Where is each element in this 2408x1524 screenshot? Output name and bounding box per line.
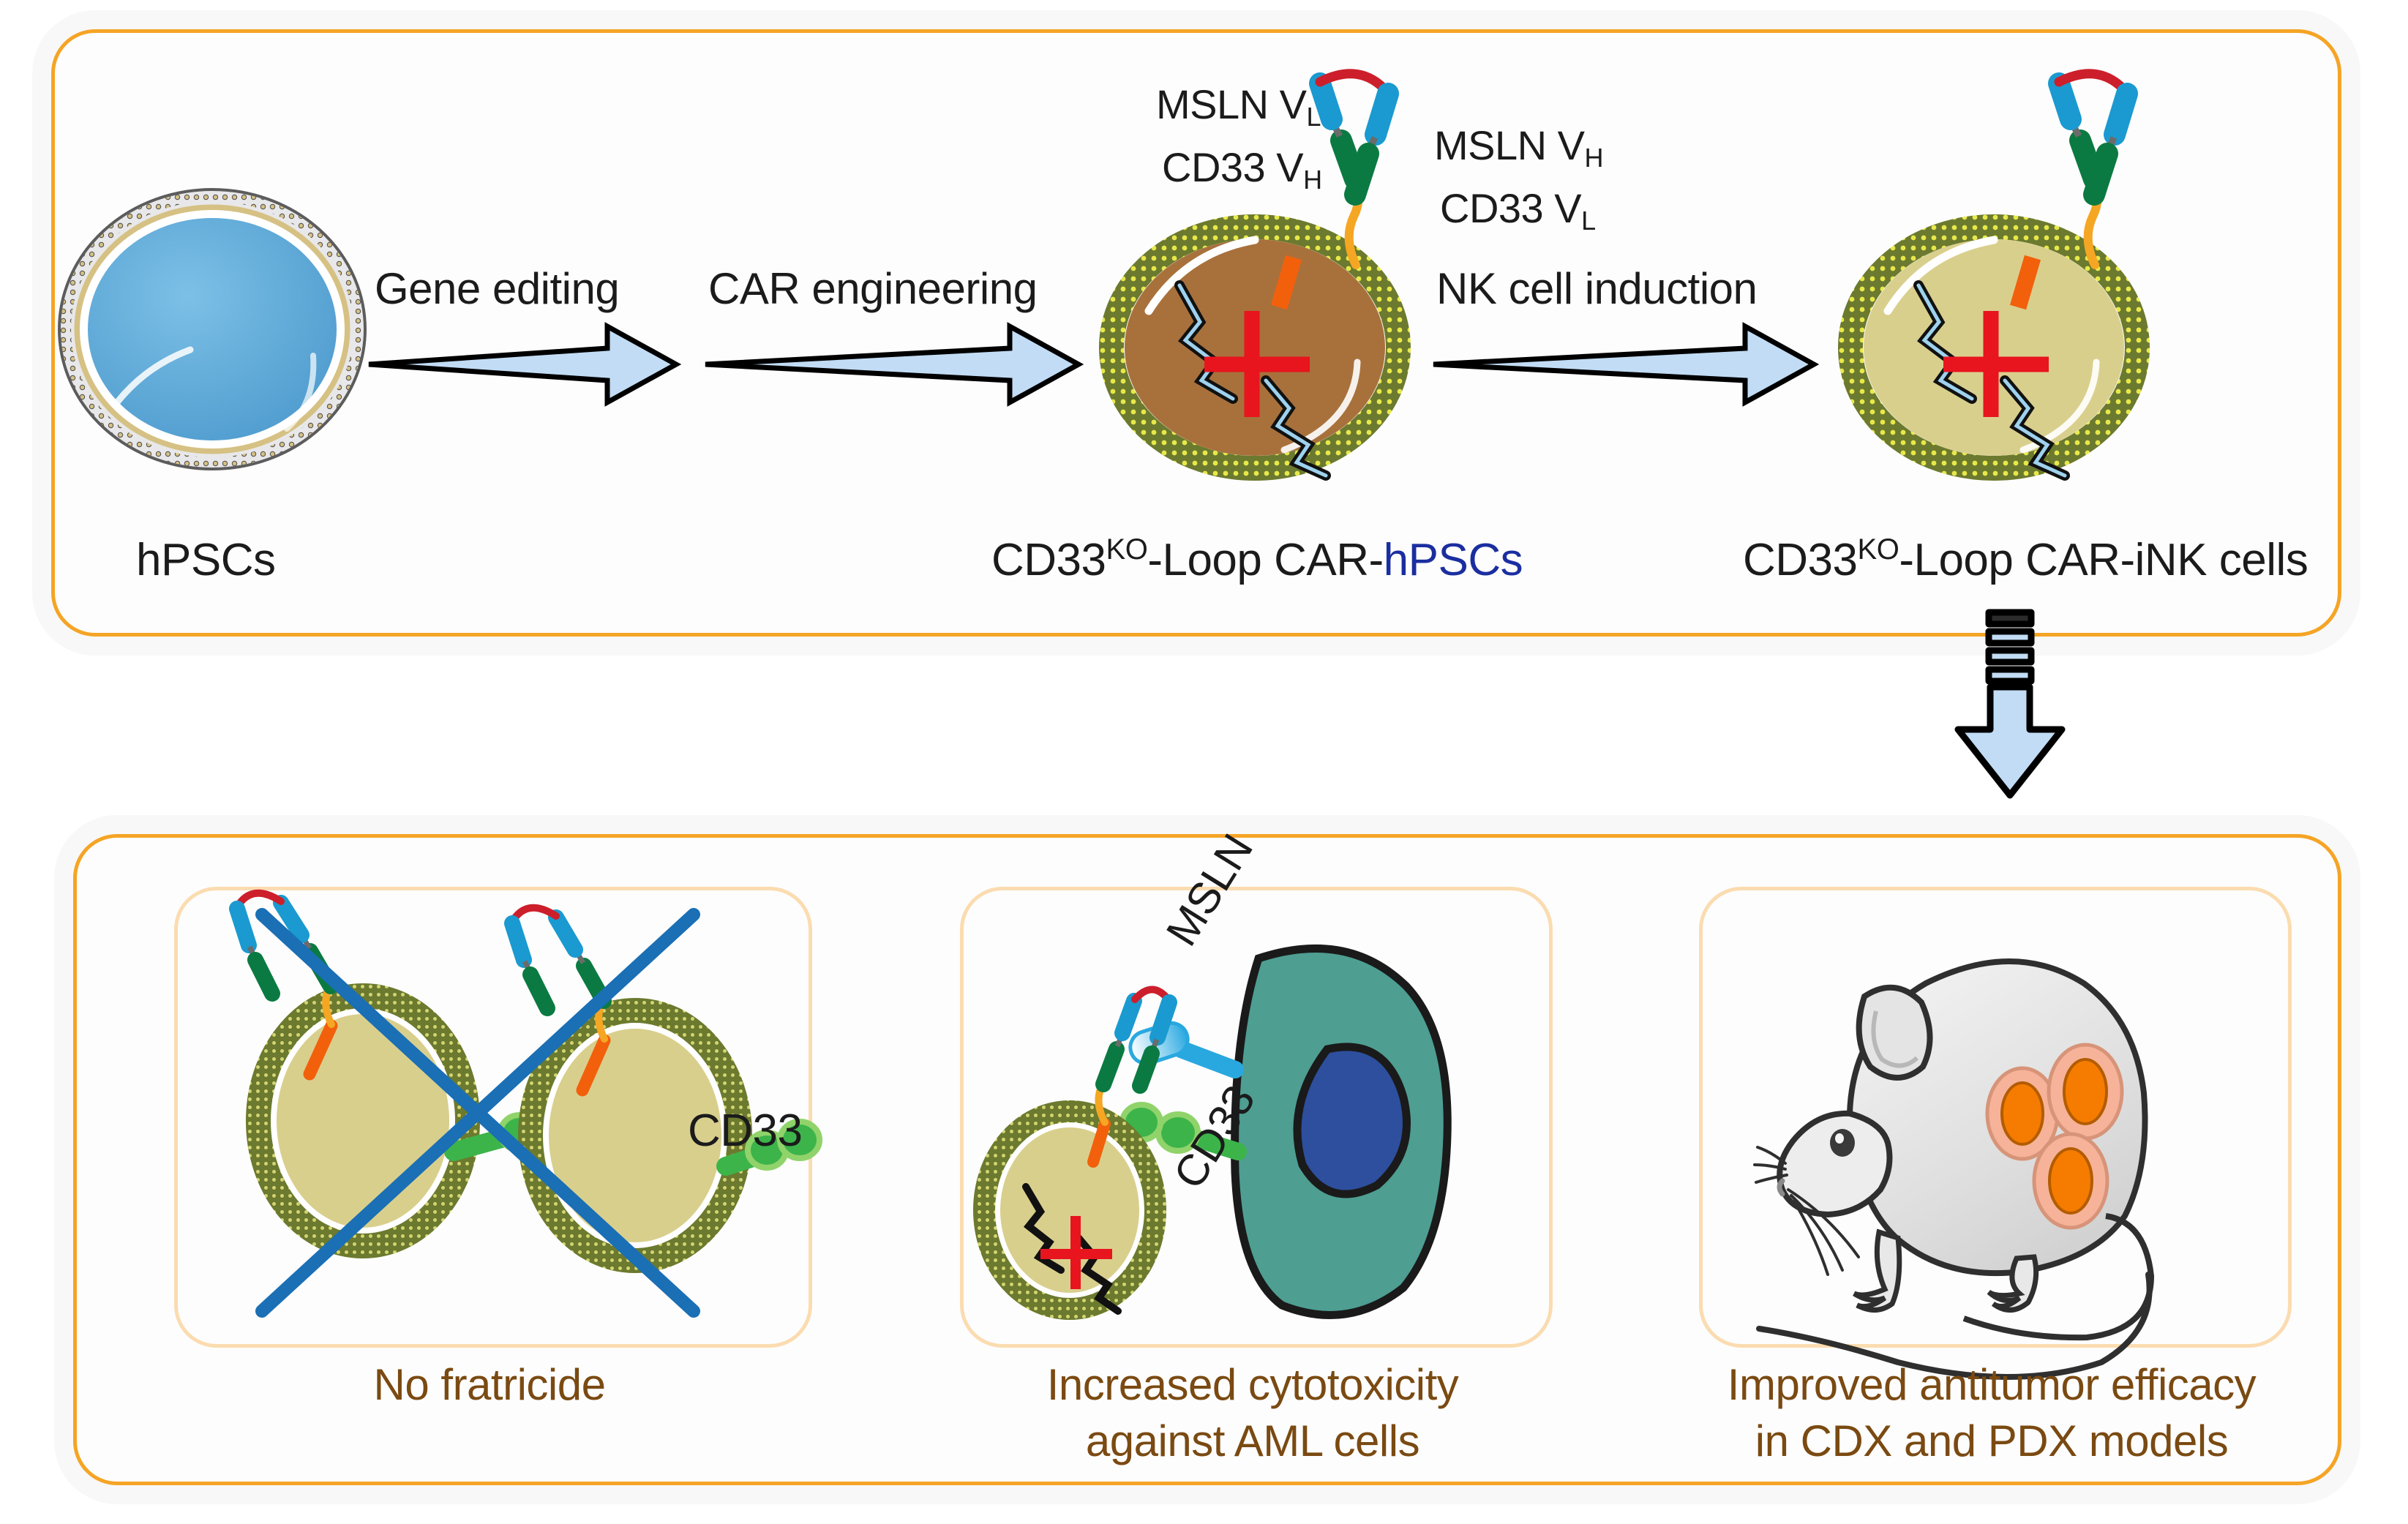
caption-increased-cytotoxicity: Increased cytotoxicity against AML cells bbox=[960, 1357, 1545, 1470]
mouse-tumor-illustration bbox=[1706, 894, 2280, 1336]
caption-improved-efficacy: Improved antitumor efficacy in CDX and P… bbox=[1699, 1357, 2284, 1470]
arrow-label-car-engineering: CAR engineering bbox=[708, 263, 1037, 314]
hpsc-cell-label: hPSCs bbox=[136, 534, 275, 586]
caption-no-fratricide: No fratricide bbox=[174, 1357, 805, 1414]
graphical-abstract: hPSCs Gene editing CAR engineering bbox=[0, 0, 2408, 1524]
hpsc-cell bbox=[59, 183, 366, 476]
arrow-gene-editing bbox=[366, 322, 688, 410]
car-hpsc-cell-label: CD33KO-Loop CAR-hPSCs bbox=[991, 534, 1523, 586]
downward-arrow-icon bbox=[1924, 611, 2100, 808]
arrow-label-nk-induction: NK cell induction bbox=[1436, 263, 1757, 314]
arrow-label-gene-editing: Gene editing bbox=[375, 263, 619, 314]
arrow-car-engineering bbox=[702, 322, 1090, 410]
loop-car-construct-ink bbox=[1983, 73, 2224, 285]
car-ink-cell-label: CD33KO-Loop CAR-iNK cells bbox=[1743, 534, 2308, 586]
car-label-right-line1: MSLN VH bbox=[1434, 121, 1603, 169]
car-label-right-line2: CD33 VL bbox=[1440, 184, 1596, 232]
cd33-antigen-label-fratricide: CD33 bbox=[688, 1105, 803, 1157]
arrow-nk-induction bbox=[1430, 322, 1826, 410]
car-label-left-line1: MSLN VL bbox=[1156, 80, 1321, 128]
car-label-left-line2: CD33 VH bbox=[1162, 143, 1322, 191]
